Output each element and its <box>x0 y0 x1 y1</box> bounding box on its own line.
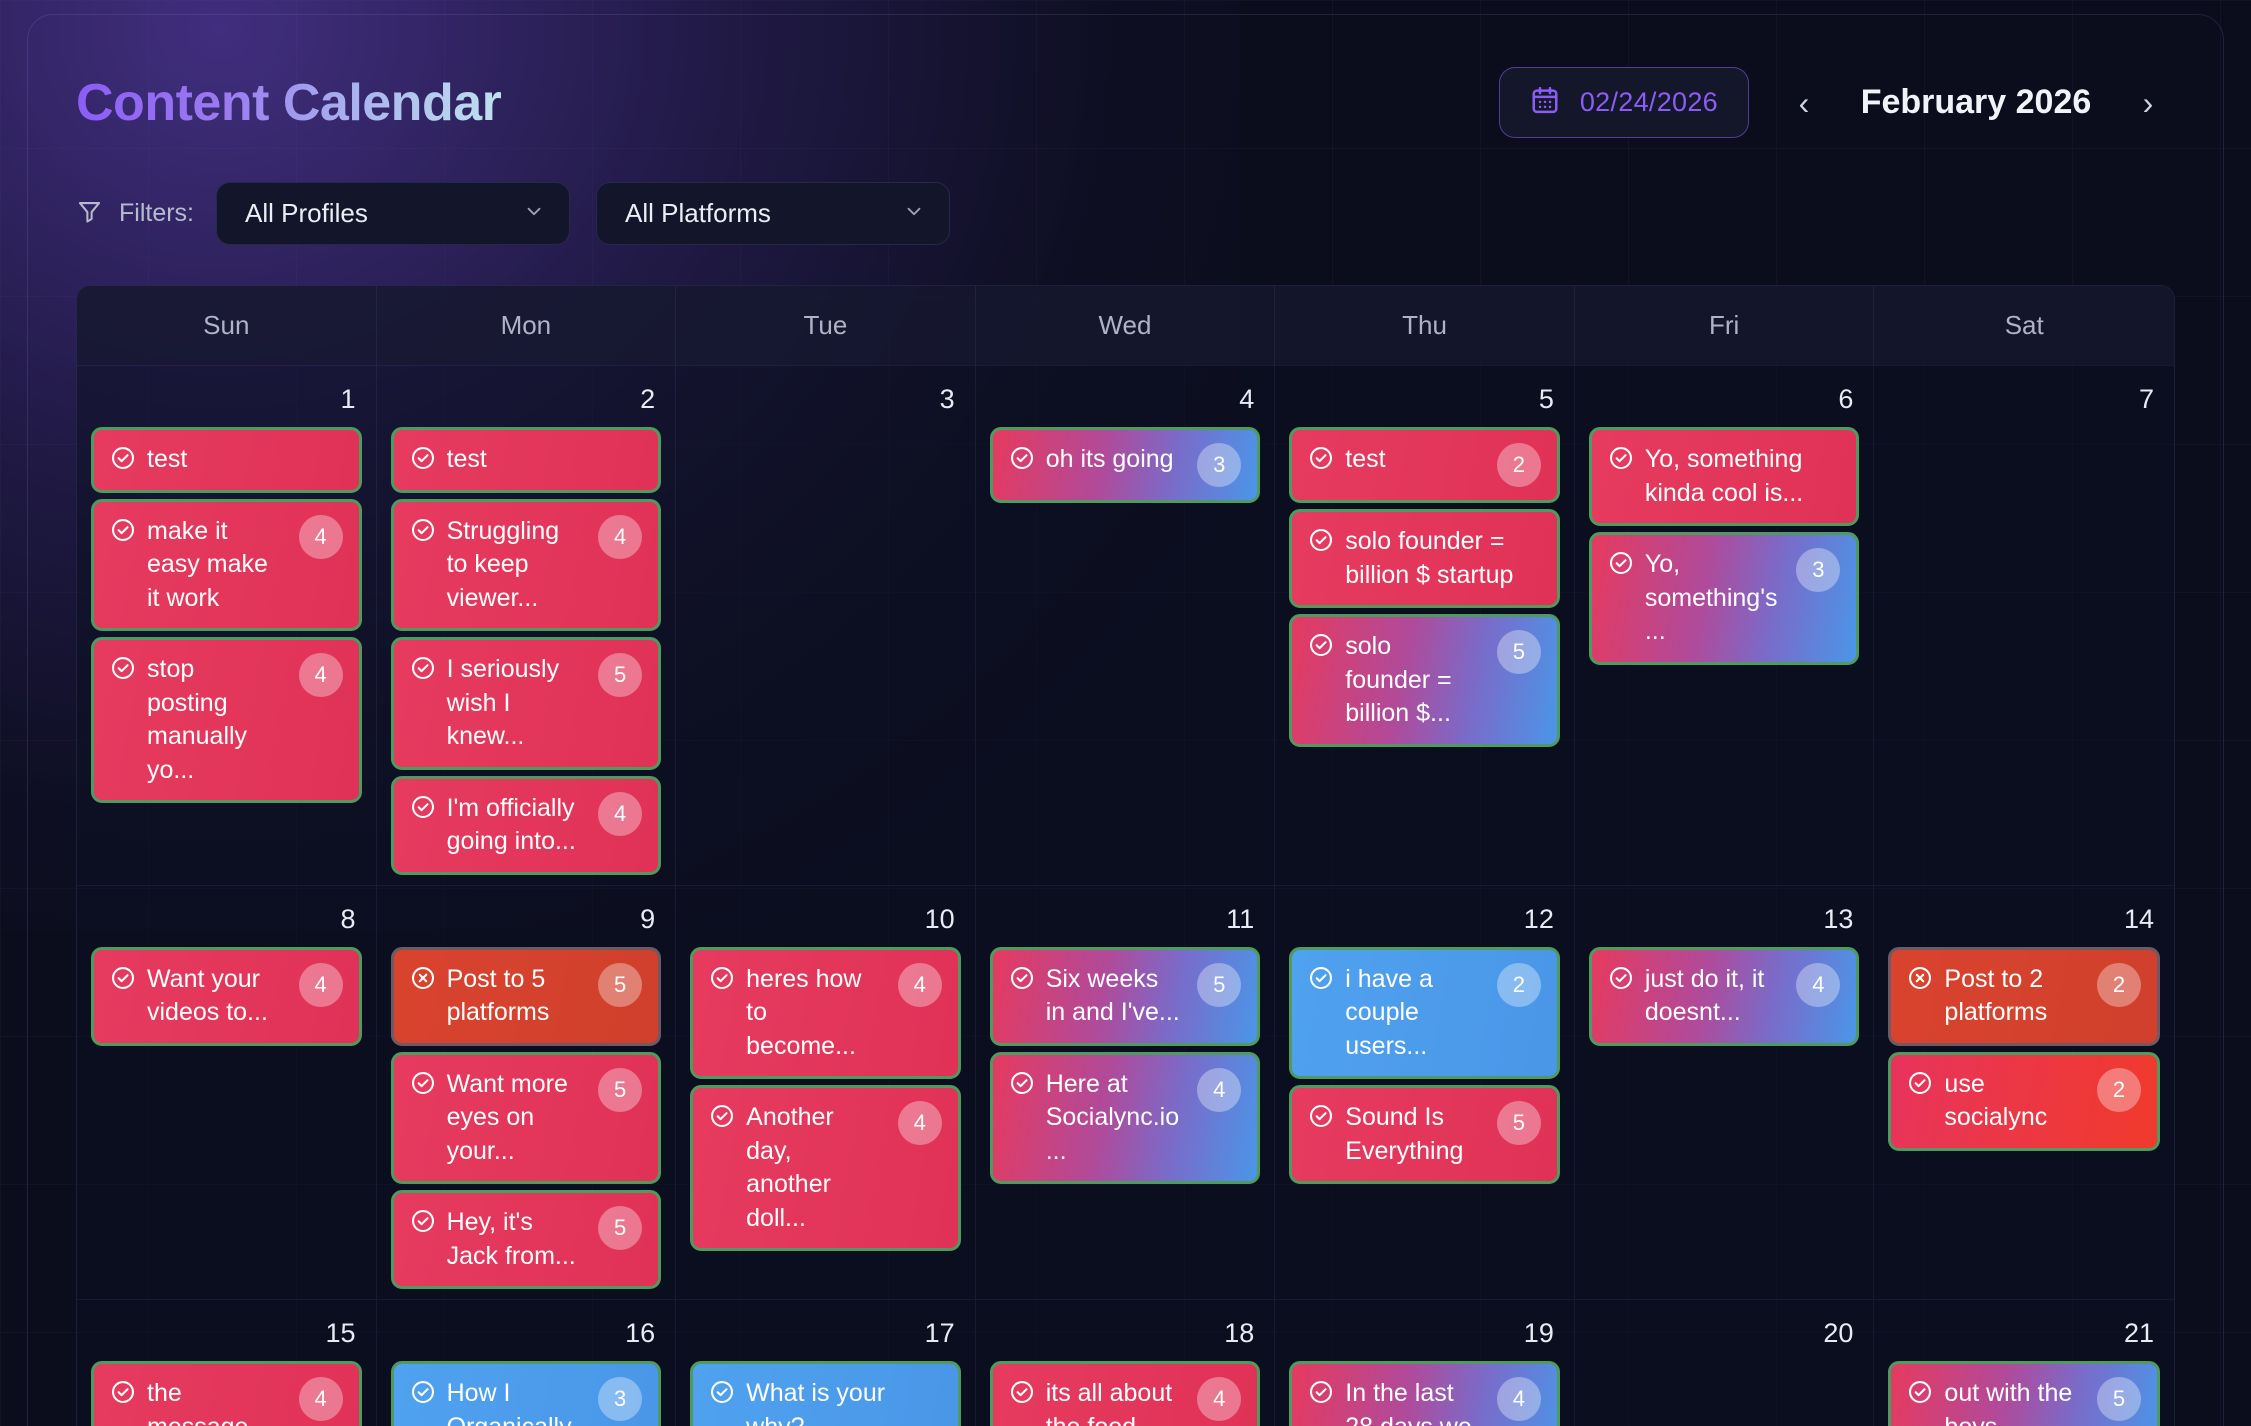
filters-bar: Filters: All Profiles All Platforms <box>76 138 2175 245</box>
calendar-event-card[interactable]: Here at Socialync.io...4 <box>990 1052 1261 1185</box>
event-title: make it easy make it work <box>147 515 282 616</box>
calendar-event-card[interactable]: Hey, it's Jack from...5 <box>391 1190 662 1289</box>
check-circle-icon <box>1308 632 1334 658</box>
check-circle-icon <box>110 445 136 471</box>
weekday-header-sun: Sun <box>77 286 377 365</box>
event-platform-count-badge: 2 <box>2097 963 2141 1007</box>
event-title: I'm officially going into... <box>447 792 582 859</box>
calendar-event-card[interactable]: test <box>91 427 362 493</box>
day-events: out with the boys5 <box>1888 1361 2160 1426</box>
check-circle-icon <box>110 965 136 991</box>
event-platform-count-badge: 4 <box>299 515 343 559</box>
check-circle-icon <box>1907 1070 1933 1096</box>
platform-filter-select[interactable]: All Platforms <box>596 182 950 245</box>
check-circle-icon <box>410 1070 436 1096</box>
calendar-event-card[interactable]: Struggling to keep viewer...4 <box>391 499 662 632</box>
day-events: oh its going3 <box>990 427 1261 503</box>
day-number: 10 <box>690 900 961 947</box>
calendar-event-card[interactable]: I'm officially going into...4 <box>391 776 662 875</box>
check-circle-icon <box>110 517 136 543</box>
event-platform-count-badge: 3 <box>1796 548 1840 592</box>
day-number: 17 <box>690 1314 961 1361</box>
check-circle-icon <box>1907 1379 1933 1405</box>
event-platform-count-badge: 4 <box>299 963 343 1007</box>
profile-filter-value: All Profiles <box>245 198 523 229</box>
day-number: 19 <box>1289 1314 1560 1361</box>
event-title: I seriously wish I knew... <box>447 653 582 754</box>
day-number: 3 <box>690 380 961 427</box>
calendar-event-card[interactable]: test2 <box>1289 427 1560 503</box>
event-platform-count-badge: 4 <box>1497 1377 1541 1421</box>
event-platform-count-badge: 5 <box>1197 963 1241 1007</box>
day-number: 7 <box>1888 380 2160 427</box>
day-events: Post to 5 platforms5Want more eyes on yo… <box>391 947 662 1290</box>
calendar-event-card[interactable]: oh its going3 <box>990 427 1261 503</box>
weekday-header-tue: Tue <box>676 286 976 365</box>
date-picker-value: 02/24/2026 <box>1580 87 1718 118</box>
event-title: Post to 2 platforms <box>1944 963 2080 1030</box>
calendar-event-card[interactable]: How I Organically...3 <box>391 1361 662 1426</box>
day-events: Want your videos to...4 <box>91 947 362 1046</box>
calendar-weeks: 1testmake it easy make it work4stop post… <box>77 365 2174 1426</box>
check-circle-icon <box>1308 1103 1334 1129</box>
calendar-day-cell[interactable]: 13just do it, it doesnt...4 <box>1575 886 1875 1300</box>
calendar-day-cell[interactable]: 21out with the boys5 <box>1874 1300 2174 1426</box>
day-number: 4 <box>990 380 1261 427</box>
event-title: Sound Is Everything <box>1345 1101 1480 1168</box>
event-title: test <box>447 443 643 477</box>
event-title: heres how to become... <box>746 963 881 1064</box>
day-number: 13 <box>1589 900 1860 947</box>
event-title: use socialync <box>1944 1068 2080 1135</box>
event-platform-count-badge: 2 <box>1497 443 1541 487</box>
calendar-day-cell[interactable]: 12i have a couple users...2Sound Is Ever… <box>1275 886 1575 1300</box>
check-circle-icon <box>1009 445 1035 471</box>
check-circle-icon <box>410 1208 436 1234</box>
event-title: Here at Socialync.io... <box>1046 1068 1181 1169</box>
calendar-event-card[interactable]: Yo, something kinda cool is... <box>1589 427 1860 526</box>
calendar-week-row: 15the message you've been...4you still h… <box>77 1299 2174 1426</box>
calendar-icon <box>1530 85 1560 120</box>
calendar-event-card[interactable]: heres how to become...4 <box>690 947 961 1080</box>
event-platform-count-badge: 4 <box>1796 963 1840 1007</box>
event-title: Want your videos to... <box>147 963 282 1030</box>
event-platform-count-badge: 3 <box>598 1377 642 1421</box>
funnel-icon <box>76 198 103 230</box>
day-events: How I Organically...3 <box>391 1361 662 1426</box>
event-platform-count-badge: 4 <box>598 792 642 836</box>
day-number: 9 <box>391 900 662 947</box>
calendar-day-cell[interactable]: 6Yo, something kinda cool is...Yo, somet… <box>1575 366 1875 885</box>
platform-filter-value: All Platforms <box>625 198 903 229</box>
event-platform-count-badge: 2 <box>2097 1068 2141 1112</box>
calendar-event-card[interactable]: Want more eyes on your...5 <box>391 1052 662 1185</box>
weekday-header-mon: Mon <box>377 286 677 365</box>
check-circle-icon <box>709 965 735 991</box>
calendar-day-cell[interactable]: 9Post to 5 platforms5Want more eyes on y… <box>377 886 677 1300</box>
calendar-event-card[interactable]: its all about the food4 <box>990 1361 1261 1426</box>
calendar-day-cell[interactable]: 19In the last 28 days we hav...4 <box>1275 1300 1575 1426</box>
current-month-label: February 2026 <box>1831 83 2121 122</box>
filters-label: Filters: <box>119 199 194 228</box>
check-circle-icon <box>1308 965 1334 991</box>
event-platform-count-badge: 5 <box>1497 1101 1541 1145</box>
event-title: solo founder = billion $... <box>1345 630 1480 731</box>
event-platform-count-badge: 4 <box>299 653 343 697</box>
calendar-event-card[interactable]: Post to 5 platforms5 <box>391 947 662 1046</box>
check-circle-icon <box>1009 1379 1035 1405</box>
calendar-event-card[interactable]: make it easy make it work4 <box>91 499 362 632</box>
next-month-button[interactable]: › <box>2121 76 2175 130</box>
header-controls: 02/24/2026 ‹ February 2026 › <box>1499 67 2175 138</box>
calendar-day-cell[interactable]: 1testmake it easy make it work4stop post… <box>77 366 377 885</box>
event-title: just do it, it doesnt... <box>1645 963 1780 1030</box>
calendar-day-cell[interactable]: 15the message you've been...4you still h… <box>77 1300 377 1426</box>
calendar-day-cell[interactable]: 16How I Organically...3 <box>377 1300 677 1426</box>
check-circle-icon <box>110 1379 136 1405</box>
event-title: Post to 5 platforms <box>447 963 582 1030</box>
event-platform-count-badge: 4 <box>898 963 942 1007</box>
event-platform-count-badge: 5 <box>598 653 642 697</box>
calendar-day-cell[interactable]: 8Want your videos to...4 <box>77 886 377 1300</box>
calendar-event-card[interactable]: use socialync2 <box>1888 1052 2160 1151</box>
calendar-event-card[interactable]: Post to 2 platforms2 <box>1888 947 2160 1046</box>
day-number: 6 <box>1589 380 1860 427</box>
chevron-down-icon <box>523 200 545 228</box>
calendar-event-card[interactable]: just do it, it doesnt...4 <box>1589 947 1860 1046</box>
calendar-day-cell[interactable]: 18its all about the food4 <box>976 1300 1276 1426</box>
check-circle-icon <box>1308 527 1334 553</box>
event-platform-count-badge: 4 <box>598 515 642 559</box>
check-circle-icon <box>1308 445 1334 471</box>
event-title: Struggling to keep viewer... <box>447 515 582 616</box>
check-circle-icon <box>709 1103 735 1129</box>
day-events: test2solo founder = billion $ startupsol… <box>1289 427 1560 747</box>
day-number: 1 <box>91 380 362 427</box>
event-platform-count-badge: 5 <box>598 963 642 1007</box>
calendar-event-card[interactable]: Another day, another doll...4 <box>690 1085 961 1251</box>
calendar-day-cell[interactable]: 11Six weeks in and I've...5Here at Socia… <box>976 886 1276 1300</box>
prev-month-button[interactable]: ‹ <box>1777 76 1831 130</box>
check-circle-icon <box>1009 1070 1035 1096</box>
event-title: stop posting manually yo... <box>147 653 282 787</box>
event-title: the message you've been... <box>147 1377 282 1426</box>
calendar-day-cell[interactable]: 17What is your why?Claude now has the ab… <box>676 1300 976 1426</box>
day-events: In the last 28 days we hav...4 <box>1289 1361 1560 1426</box>
event-title: Yo, something's... <box>1645 548 1780 649</box>
calendar-event-card[interactable]: test <box>391 427 662 493</box>
day-events: the message you've been...4you still hav… <box>91 1361 362 1426</box>
weekday-header-row: SunMonTueWedThuFriSat <box>77 286 2174 365</box>
event-title: its all about the food <box>1046 1377 1181 1426</box>
calendar-event-card[interactable]: stop posting manually yo...4 <box>91 637 362 803</box>
event-platform-count-badge: 5 <box>598 1068 642 1112</box>
event-platform-count-badge: 5 <box>2097 1377 2141 1421</box>
event-platform-count-badge: 4 <box>299 1377 343 1421</box>
calendar-day-cell[interactable]: 5test2solo founder = billion $ startupso… <box>1275 366 1575 885</box>
event-title: What is your why? <box>746 1377 942 1426</box>
calendar-day-cell[interactable]: 14Post to 2 platforms2use socialync2 <box>1874 886 2174 1300</box>
check-circle-icon <box>410 445 436 471</box>
check-circle-icon <box>1308 1379 1334 1405</box>
calendar-day-cell[interactable]: 4oh its going3 <box>976 366 1276 885</box>
day-number: 18 <box>990 1314 1261 1361</box>
chevron-down-icon <box>903 200 925 228</box>
calendar-day-cell[interactable]: 20 <box>1575 1300 1875 1426</box>
day-events: just do it, it doesnt...4 <box>1589 947 1860 1046</box>
calendar-event-card[interactable]: the message you've been...4 <box>91 1361 362 1426</box>
day-events: Six weeks in and I've...5Here at Socialy… <box>990 947 1261 1185</box>
day-number: 11 <box>990 900 1261 947</box>
check-circle-icon <box>1608 445 1634 471</box>
calendar-event-card[interactable]: Want your videos to...4 <box>91 947 362 1046</box>
page-header: Content Calendar <box>76 15 2175 138</box>
event-title: i have a couple users... <box>1345 963 1480 1064</box>
event-platform-count-badge: 5 <box>1497 630 1541 674</box>
calendar-event-card[interactable]: I seriously wish I knew...5 <box>391 637 662 770</box>
calendar-day-cell[interactable]: 2testStruggling to keep viewer...4I seri… <box>377 366 677 885</box>
main-panel: Content Calendar <box>27 14 2224 1426</box>
profile-filter-select[interactable]: All Profiles <box>216 182 570 245</box>
weekday-header-sat: Sat <box>1874 286 2174 365</box>
event-title: test <box>147 443 343 477</box>
event-title: Yo, something kinda cool is... <box>1645 443 1841 510</box>
calendar-event-card[interactable]: What is your why? <box>690 1361 961 1426</box>
x-circle-icon <box>1907 965 1933 991</box>
check-circle-icon <box>410 794 436 820</box>
calendar-event-card[interactable]: Sound Is Everything5 <box>1289 1085 1560 1184</box>
page-title: Content Calendar <box>76 77 501 129</box>
day-events: What is your why?Claude now has the abil… <box>690 1361 961 1426</box>
event-platform-count-badge: 2 <box>1497 963 1541 1007</box>
day-number: 20 <box>1589 1314 1860 1361</box>
calendar-event-card[interactable]: i have a couple users...2 <box>1289 947 1560 1080</box>
event-platform-count-badge: 5 <box>598 1206 642 1250</box>
day-number: 21 <box>1888 1314 2160 1361</box>
calendar-day-cell[interactable]: 3 <box>676 366 976 885</box>
event-title: In the last 28 days we hav... <box>1345 1377 1480 1426</box>
day-events: its all about the food4 <box>990 1361 1261 1426</box>
event-title: Hey, it's Jack from... <box>447 1206 582 1273</box>
check-circle-icon <box>1608 965 1634 991</box>
event-platform-count-badge: 4 <box>1197 1068 1241 1112</box>
event-title: oh its going <box>1046 443 1181 477</box>
day-events: i have a couple users...2Sound Is Everyt… <box>1289 947 1560 1185</box>
day-number: 15 <box>91 1314 362 1361</box>
day-number: 2 <box>391 380 662 427</box>
calendar-event-card[interactable]: Yo, something's...3 <box>1589 532 1860 665</box>
day-number: 16 <box>391 1314 662 1361</box>
day-events: testmake it easy make it work4stop posti… <box>91 427 362 803</box>
check-circle-icon <box>1009 965 1035 991</box>
check-circle-icon <box>110 655 136 681</box>
calendar-event-card[interactable]: In the last 28 days we hav...4 <box>1289 1361 1560 1426</box>
event-title: Another day, another doll... <box>746 1101 881 1235</box>
calendar-event-card[interactable]: solo founder = billion $ startup <box>1289 509 1560 608</box>
day-number: 8 <box>91 900 362 947</box>
weekday-header-fri: Fri <box>1575 286 1875 365</box>
day-number: 5 <box>1289 380 1560 427</box>
calendar-app: Content Calendar <box>0 0 2251 1426</box>
calendar-event-card[interactable]: out with the boys5 <box>1888 1361 2160 1426</box>
calendar-week-row: 8Want your videos to...49Post to 5 platf… <box>77 885 2174 1300</box>
date-picker[interactable]: 02/24/2026 <box>1499 67 1749 138</box>
weekday-header-wed: Wed <box>976 286 1276 365</box>
weekday-header-thu: Thu <box>1275 286 1575 365</box>
day-events: heres how to become...4Another day, anot… <box>690 947 961 1252</box>
check-circle-icon <box>709 1379 735 1405</box>
event-title: How I Organically... <box>447 1377 582 1426</box>
event-title: Six weeks in and I've... <box>1046 963 1181 1030</box>
day-events: Post to 2 platforms2use socialync2 <box>1888 947 2160 1151</box>
x-circle-icon <box>410 965 436 991</box>
calendar-day-cell[interactable]: 10heres how to become...4Another day, an… <box>676 886 976 1300</box>
day-events: testStruggling to keep viewer...4I serio… <box>391 427 662 875</box>
event-platform-count-badge: 4 <box>1197 1377 1241 1421</box>
calendar-week-row: 1testmake it easy make it work4stop post… <box>77 365 2174 885</box>
calendar-day-cell[interactable]: 7 <box>1874 366 2174 885</box>
check-circle-icon <box>410 655 436 681</box>
event-platform-count-badge: 4 <box>898 1101 942 1145</box>
day-number: 12 <box>1289 900 1560 947</box>
calendar-event-card[interactable]: solo founder = billion $...5 <box>1289 614 1560 747</box>
event-title: solo founder = billion $ startup <box>1345 525 1541 592</box>
check-circle-icon <box>410 517 436 543</box>
event-title: Want more eyes on your... <box>447 1068 582 1169</box>
day-events: Yo, something kinda cool is...Yo, someth… <box>1589 427 1860 665</box>
event-platform-count-badge: 3 <box>1197 443 1241 487</box>
event-title: test <box>1345 443 1480 477</box>
day-number: 14 <box>1888 900 2160 947</box>
calendar-event-card[interactable]: Six weeks in and I've...5 <box>990 947 1261 1046</box>
check-circle-icon <box>1608 550 1634 576</box>
calendar-grid: SunMonTueWedThuFriSat 1testmake it easy … <box>76 285 2175 1426</box>
event-title: out with the boys <box>1944 1377 2080 1426</box>
check-circle-icon <box>410 1379 436 1405</box>
